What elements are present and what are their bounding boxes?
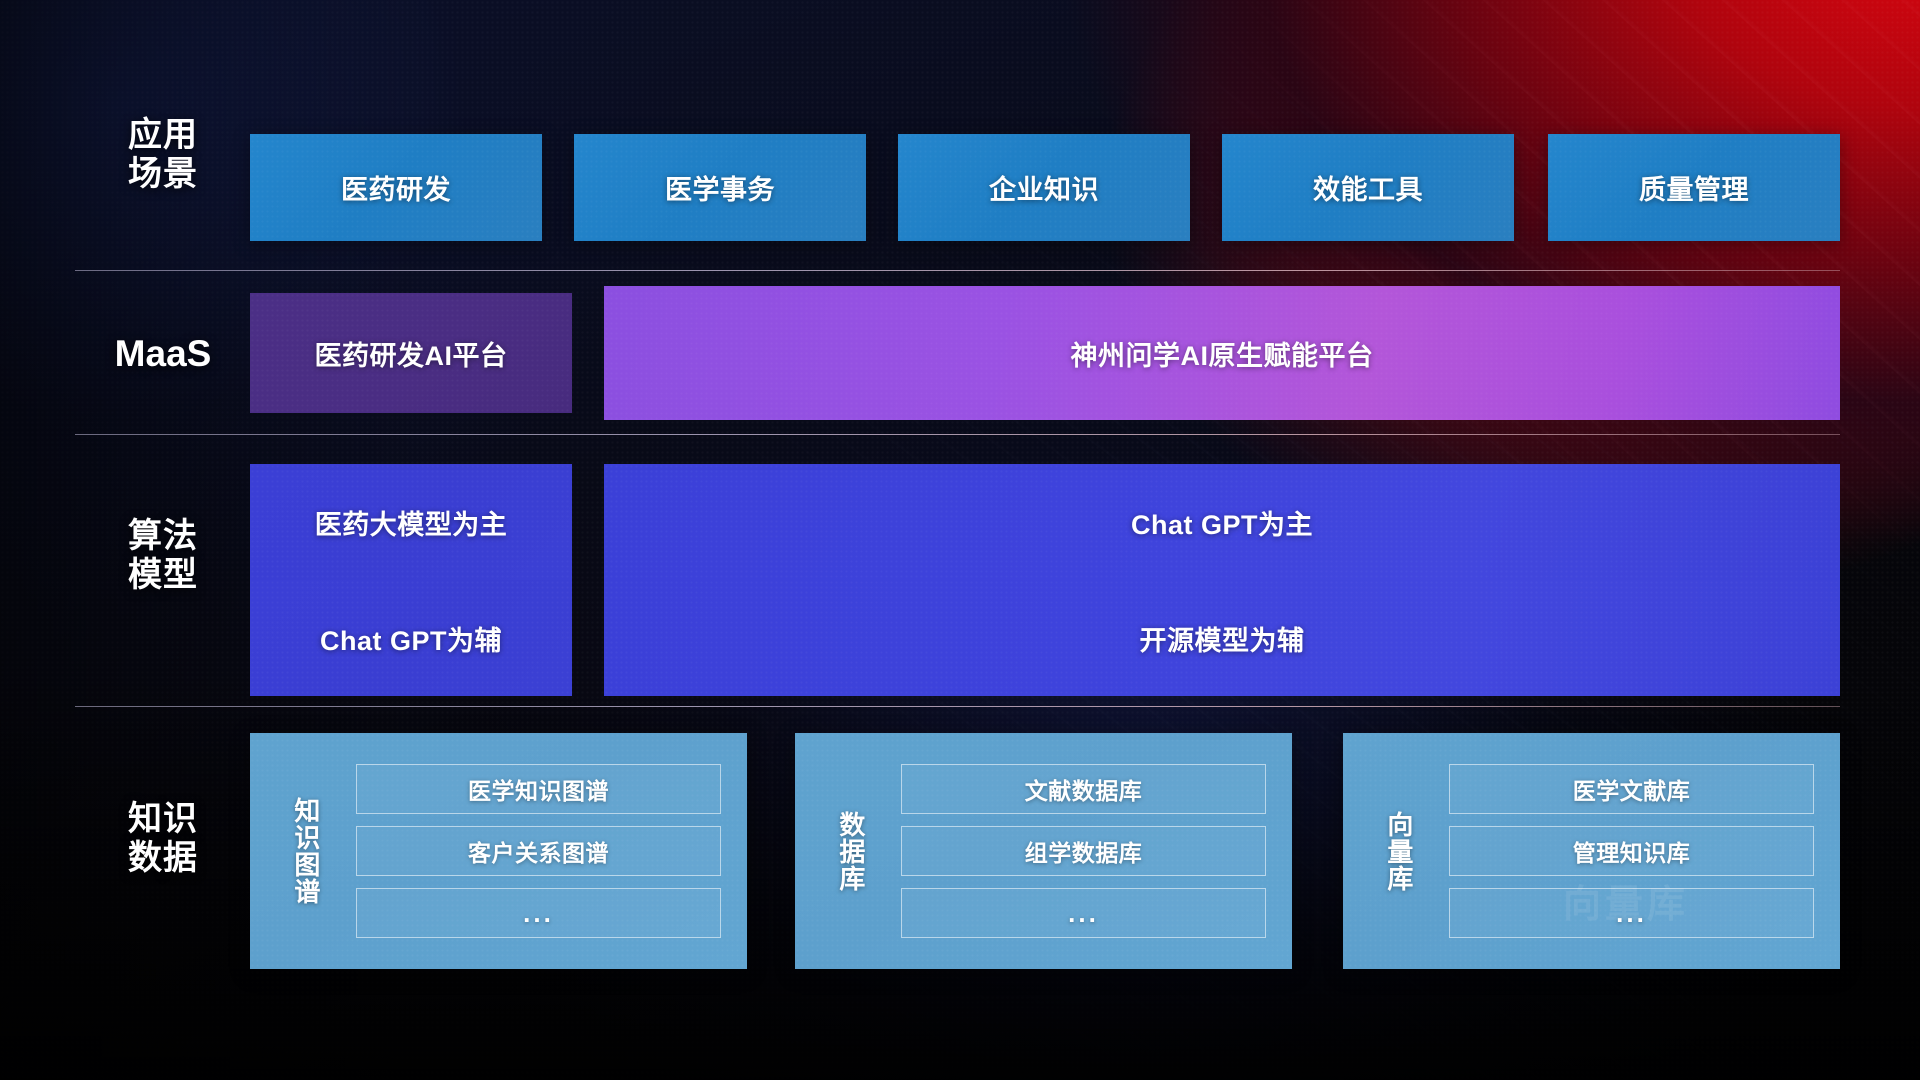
app-scenario-box-2[interactable]: 医学事务 [574,134,866,241]
app-scenario-label-1: 医药研发 [341,168,451,207]
knowledge-panel-items-1: 医学知识图谱 客户关系图谱 ... [342,733,747,969]
app-scenario-label-4: 效能工具 [1313,168,1423,207]
algorithm-right-label-1: Chat GPT为主 [1131,503,1313,542]
app-scenario-box-1[interactable]: 医药研发 [250,134,542,241]
row-label-algorithm: 算法 模型 [88,517,238,595]
maas-right-label: 神州问学AI原生赋能平台 [1071,334,1374,373]
app-scenario-box-5[interactable]: 质量管理 [1548,134,1840,241]
knowledge-panel-items-2: 文献数据库 组学数据库 ... [887,733,1292,969]
algorithm-left-box-2[interactable]: Chat GPT为辅 [250,580,572,696]
knowledge-item-2-1[interactable]: 文献数据库 [901,764,1266,814]
row-label-application: 应用 场景 [88,116,238,194]
knowledge-item-1-1[interactable]: 医学知识图谱 [356,764,721,814]
maas-left-box[interactable]: 医药研发AI平台 [250,293,572,413]
knowledge-panel-title-3: 向量库 [1343,733,1435,969]
app-scenario-label-3: 企业知识 [989,168,1099,207]
knowledge-panel-title-2: 数据库 [795,733,887,969]
architecture-diagram: 应用 场景 医药研发 医学事务 企业知识 效能工具 质量管理 MaaS 医药研发… [0,0,1920,1080]
knowledge-panel-items-3: 医学文献库 管理知识库 ... [1435,733,1840,969]
knowledge-item-3-1[interactable]: 医学文献库 [1449,764,1814,814]
knowledge-item-1-2[interactable]: 客户关系图谱 [356,826,721,876]
maas-right-box[interactable]: 神州问学AI原生赋能平台 [604,286,1840,420]
knowledge-item-3-3[interactable]: ... [1449,888,1814,938]
knowledge-panel-title-1: 知识图谱 [250,733,342,969]
row-label-maas: MaaS [88,333,238,375]
divider-application-maas [75,270,1840,271]
knowledge-item-2-2[interactable]: 组学数据库 [901,826,1266,876]
algorithm-left-label-1: 医药大模型为主 [315,503,508,542]
knowledge-panel-knowledge-graph[interactable]: 知识图谱 医学知识图谱 客户关系图谱 ... [250,733,747,969]
app-scenario-box-4[interactable]: 效能工具 [1222,134,1514,241]
slide-canvas: 应用 场景 医药研发 医学事务 企业知识 效能工具 质量管理 MaaS 医药研发… [0,0,1920,1080]
row-label-knowledge: 知识 数据 [88,800,238,878]
algorithm-left-box-1[interactable]: 医药大模型为主 [250,464,572,580]
algorithm-right-label-2: 开源模型为辅 [1140,619,1305,658]
divider-algorithm-knowledge [75,706,1840,707]
algorithm-right-box-2[interactable]: 开源模型为辅 [604,580,1840,696]
knowledge-item-1-3[interactable]: ... [356,888,721,938]
algorithm-right-box-1[interactable]: Chat GPT为主 [604,464,1840,580]
algorithm-left-label-2: Chat GPT为辅 [320,619,502,658]
knowledge-item-2-3[interactable]: ... [901,888,1266,938]
divider-maas-algorithm [75,434,1840,435]
knowledge-panel-vector-store[interactable]: 向量库 向量库 医学文献库 管理知识库 ... [1343,733,1840,969]
knowledge-panel-database[interactable]: 数据库 文献数据库 组学数据库 ... [795,733,1292,969]
app-scenario-label-2: 医学事务 [665,168,775,207]
knowledge-item-3-2[interactable]: 管理知识库 [1449,826,1814,876]
app-scenario-box-3[interactable]: 企业知识 [898,134,1190,241]
app-scenario-label-5: 质量管理 [1639,168,1749,207]
maas-left-label: 医药研发AI平台 [315,334,508,373]
